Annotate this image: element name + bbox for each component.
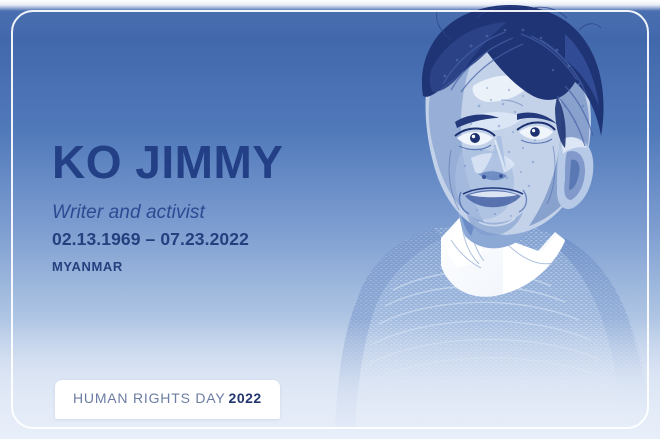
subject-role: Writer and activist	[52, 202, 352, 224]
badge-year: 2022	[229, 390, 262, 406]
subject-country: MYANMAR	[52, 259, 352, 274]
badge-label: HUMAN RIGHTS DAY	[73, 390, 226, 406]
page-title: KO JIMMY	[52, 138, 352, 186]
nostril-right	[499, 174, 503, 178]
human-rights-day-badge: HUMAN RIGHTS DAY2022	[55, 380, 280, 419]
nostril-left	[482, 175, 486, 179]
subject-dates: 02.13.1969 – 07.23.2022	[52, 229, 352, 250]
human-rights-day-card: KO JIMMY Writer and activist 02.13.1969 …	[0, 0, 660, 439]
subject-info-block: KO JIMMY Writer and activist 02.13.1969 …	[52, 138, 352, 274]
